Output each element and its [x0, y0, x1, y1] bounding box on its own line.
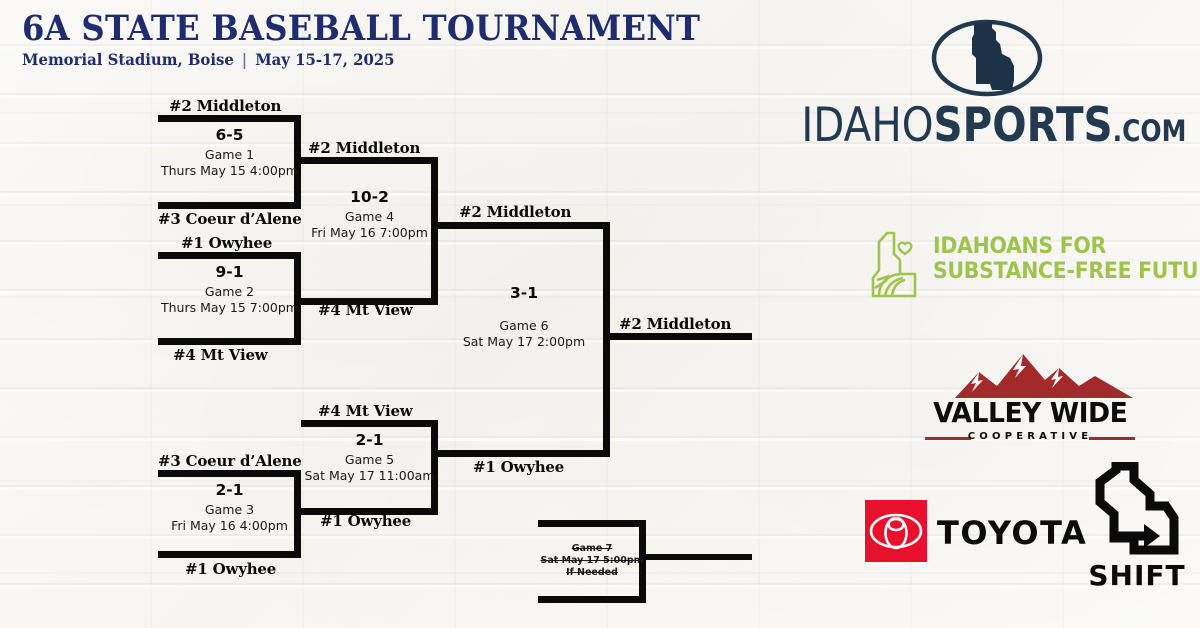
game-6-score: 3-1	[438, 284, 610, 302]
bracket-graphic: 6A STATE BASEBALL TOURNAMENT Memorial St…	[0, 0, 1200, 628]
game-5-datetime: Sat May 17 11:00am	[291, 468, 448, 484]
page-title: 6A STATE BASEBALL TOURNAMENT	[22, 8, 700, 49]
game-3-top-bar	[158, 470, 301, 477]
game-5-meta: Game 5 Sat May 17 11:00am	[291, 452, 448, 484]
game-1-datetime: Thurs May 15 4:00pm	[148, 163, 311, 179]
sponsor-column: IDAHOSPORTS.COM IDAHOANS F	[760, 0, 1200, 628]
mountain-range-icon	[927, 352, 1133, 400]
valley-wide-sub-row: COOPERATIVE	[915, 431, 1145, 445]
game-1-bottom-team: #3 Coeur d’Alene	[158, 210, 302, 228]
substance-free-futures-wordmark: IDAHOANS FOR SUBSTANCE-FREE FUTURES	[933, 234, 1200, 284]
idahosports-word-bold: SPORTS	[934, 98, 1113, 153]
game-5-top-team: #4 Mt View	[318, 402, 413, 420]
game-2-top-team: #1 Owyhee	[181, 234, 272, 252]
idaho-state-oval-icon	[928, 18, 1046, 98]
game-1-label: Game 1	[148, 147, 311, 163]
toyota-ellipse-icon	[865, 500, 927, 562]
valley-wide-name: VALLEY WIDE	[915, 396, 1145, 429]
game-6-label: Game 6	[438, 318, 610, 334]
game-4-score: 10-2	[301, 188, 438, 206]
champion-team: #2 Middleton	[619, 315, 731, 333]
shift-wordmark: SHIFT	[1078, 559, 1196, 592]
game-7-label: Game 7	[538, 543, 646, 555]
game-6-top-team: #2 Middleton	[459, 203, 571, 221]
game-4-meta: Game 4 Fri May 16 7:00pm	[291, 209, 448, 241]
game-5-top-bar	[301, 420, 438, 427]
game-3-score: 2-1	[158, 481, 301, 499]
idaho-sunrise-heart-icon	[865, 230, 927, 300]
game-6-meta: Game 6 Sat May 17 2:00pm	[438, 318, 610, 350]
game-3-label: Game 3	[148, 502, 311, 518]
game-6-top-bar	[438, 222, 610, 229]
game-7-advance-bar	[646, 554, 752, 560]
game-5-score: 2-1	[301, 431, 438, 449]
game-7-bottom-bar	[538, 596, 646, 603]
game-6-bottom-bar	[438, 450, 610, 457]
valley-wide-logo[interactable]: VALLEY WIDE COOPERATIVE	[915, 352, 1145, 450]
game-7-top-bar	[538, 520, 646, 527]
game-5-label: Game 5	[291, 452, 448, 468]
idahosports-word-light: IDAHO	[801, 98, 933, 153]
game-1-meta: Game 1 Thurs May 15 4:00pm	[148, 147, 311, 179]
game-4-top-team: #2 Middleton	[308, 139, 420, 157]
game-3-bottom-bar	[158, 551, 301, 558]
substance-free-line-1: IDAHOANS FOR	[933, 234, 1200, 259]
substance-free-futures-logo[interactable]: IDAHOANS FOR SUBSTANCE-FREE FUTURES	[865, 228, 1200, 308]
game-7-meta: Game 7 Sat May 17 5:00pm If Needed	[538, 543, 646, 579]
valley-wide-sub: COOPERATIVE	[915, 431, 1145, 442]
dates-text: May 15-17, 2025	[255, 50, 394, 69]
game-2-bottom-bar	[158, 338, 301, 345]
game-2-top-bar	[158, 252, 301, 259]
game-2-meta: Game 2 Thurs May 15 7:00pm	[148, 284, 311, 316]
shift-logo[interactable]: SHIFT	[1078, 462, 1198, 597]
game-3-top-team: #3 Coeur d’Alene	[158, 452, 302, 470]
idahosports-word-tld: .COM	[1113, 114, 1187, 148]
game-3-datetime: Fri May 16 4:00pm	[148, 518, 311, 534]
game-1-bottom-bar	[158, 202, 301, 209]
game-4-bottom-team: #4 Mt View	[318, 301, 413, 319]
game-2-score: 9-1	[158, 263, 301, 281]
champion-bar	[610, 333, 752, 340]
game-4-top-bar	[301, 157, 438, 164]
idahosports-logo[interactable]: IDAHOSPORTS.COM	[770, 18, 1200, 168]
toyota-wordmark: TOYOTA	[937, 514, 1087, 552]
subtitle-separator: |	[239, 50, 250, 69]
game-2-label: Game 2	[148, 284, 311, 300]
game-6-bottom-team: #1 Owyhee	[473, 458, 564, 476]
game-2-bottom-team: #4 Mt View	[173, 346, 268, 364]
venue-text: Memorial Stadium, Boise	[22, 50, 234, 69]
game-6-datetime: Sat May 17 2:00pm	[438, 334, 610, 350]
game-4-label: Game 4	[291, 209, 448, 225]
game-4-datetime: Fri May 16 7:00pm	[291, 225, 448, 241]
game-3-bottom-team: #1 Owyhee	[185, 560, 276, 578]
game-1-top-bar	[158, 115, 301, 122]
game-1-score: 6-5	[158, 126, 301, 144]
game-2-datetime: Thurs May 15 7:00pm	[148, 300, 311, 316]
game-5-bottom-team: #1 Owyhee	[320, 512, 411, 530]
game-3-meta: Game 3 Fri May 16 4:00pm	[148, 502, 311, 534]
game-7-datetime: Sat May 17 5:00pm	[538, 555, 646, 567]
idaho-arrow-icon	[1078, 462, 1188, 562]
substance-free-line-2: SUBSTANCE-FREE FUTURES	[933, 259, 1200, 284]
game-7-note: If Needed	[538, 567, 646, 579]
idahosports-wordmark: IDAHOSPORTS.COM	[770, 102, 1200, 149]
page-subtitle: Memorial Stadium, Boise | May 15-17, 202…	[22, 50, 395, 69]
game-1-top-team: #2 Middleton	[169, 97, 281, 115]
